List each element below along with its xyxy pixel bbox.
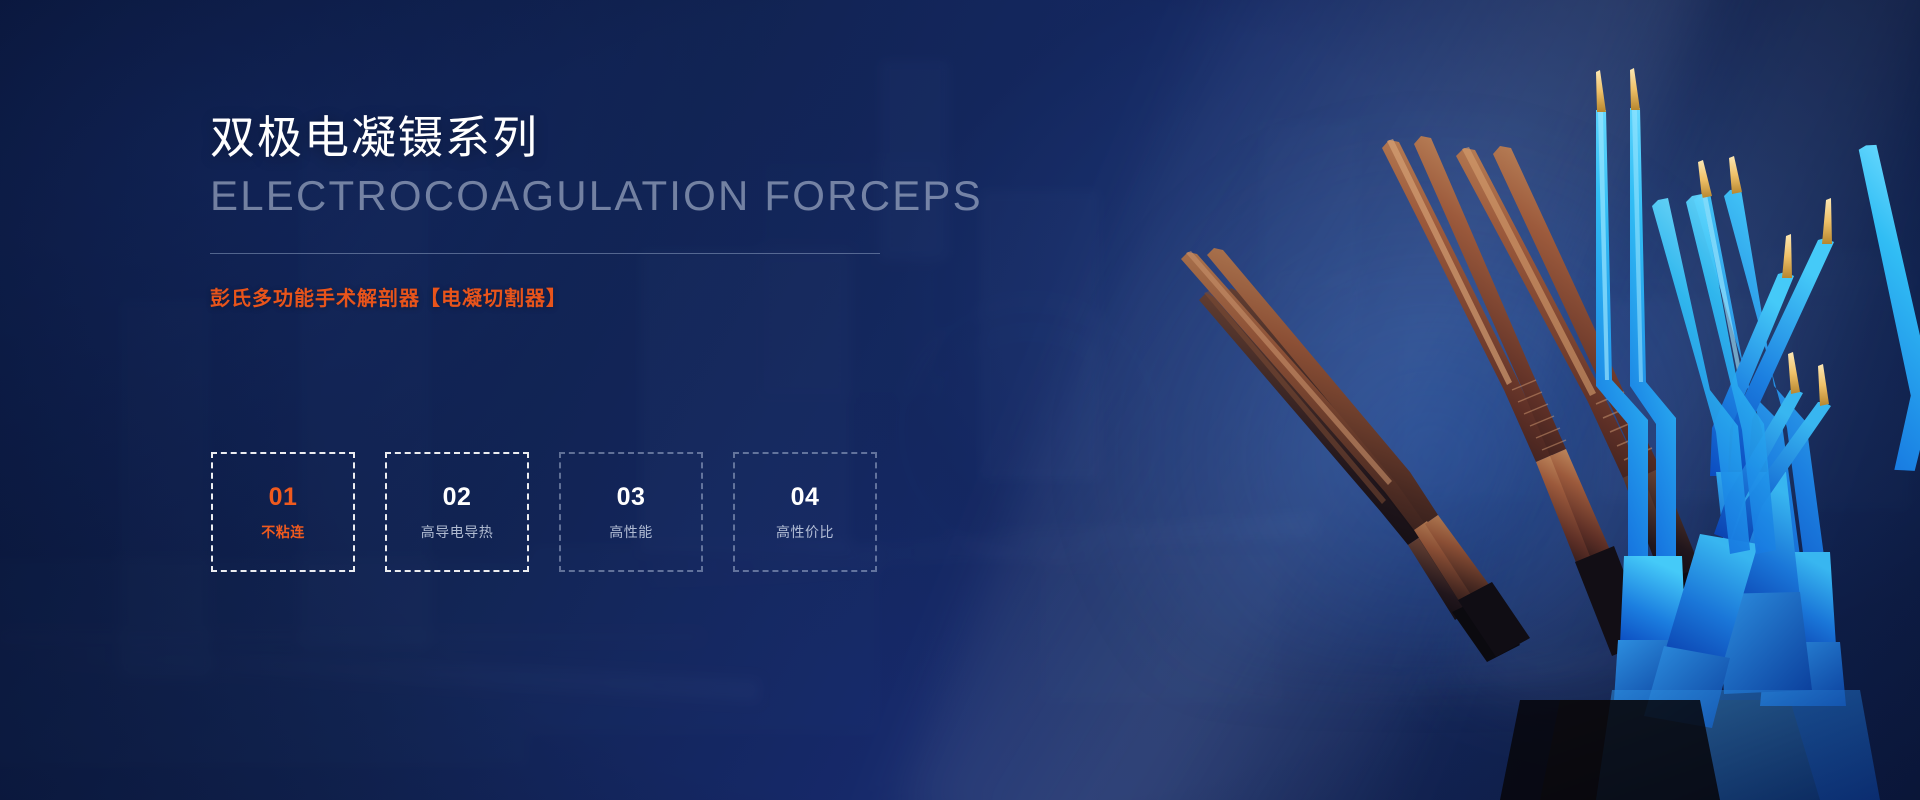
- title-divider: [210, 253, 880, 254]
- forceps-product-image: [1000, 0, 1920, 800]
- feature-label: 高性能: [609, 525, 653, 539]
- feature-number: 04: [791, 485, 820, 510]
- page-title-en: ELECTROCOAGULATION FORCEPS: [210, 172, 910, 220]
- feature-list: 01 不粘连 02 高导电导热 03 高性能 04 高性价比: [211, 452, 877, 572]
- product-hero-banner: 双极电凝镊系列 ELECTROCOAGULATION FORCEPS 彭氏多功能…: [0, 0, 1920, 800]
- feature-label: 高导电导热: [421, 525, 494, 539]
- hero-text-block: 双极电凝镊系列 ELECTROCOAGULATION FORCEPS 彭氏多功能…: [210, 110, 910, 311]
- feature-label: 高性价比: [776, 525, 834, 539]
- feature-number: 03: [617, 485, 646, 510]
- feature-card-01[interactable]: 01 不粘连: [211, 452, 355, 572]
- feature-card-03[interactable]: 03 高性能: [559, 452, 703, 572]
- feature-number: 01: [269, 485, 298, 510]
- feature-card-04[interactable]: 04 高性价比: [733, 452, 877, 572]
- product-subtitle: 彭氏多功能手术解剖器【电凝切割器】: [210, 282, 910, 311]
- feature-card-02[interactable]: 02 高导电导热: [385, 452, 529, 572]
- feature-label: 不粘连: [261, 525, 305, 539]
- page-title-cn: 双极电凝镊系列: [210, 110, 910, 166]
- feature-number: 02: [443, 485, 472, 510]
